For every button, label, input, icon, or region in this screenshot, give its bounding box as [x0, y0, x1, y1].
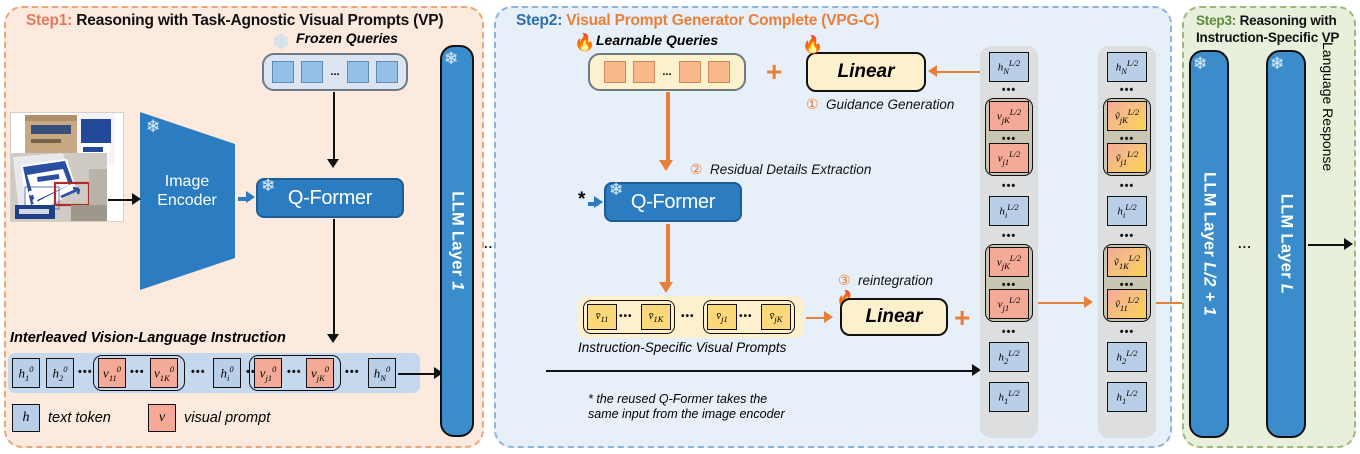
- col-right-token-vj1: ṽj1L/2: [1107, 143, 1147, 173]
- qformer-block-step2: Q-Former: [604, 182, 742, 222]
- arrow-photo-to-encoder: [108, 199, 134, 201]
- instruction-label: Interleaved Vision-Language Instruction: [10, 330, 286, 346]
- col-right-token-hi: hiL/2: [1107, 196, 1147, 226]
- panel-step3-title: Step3: Reasoning with Instruction-Specif…: [1196, 12, 1339, 46]
- query-cell: [633, 61, 655, 83]
- plus-sign-bottom: +: [954, 304, 970, 332]
- arrow-hN-to-linear: [936, 71, 984, 73]
- language-response-label: Language Response: [1320, 42, 1336, 171]
- arrow-head: [327, 334, 339, 343]
- llm-layer-dots-step3: ...: [1238, 236, 1252, 251]
- flame-icon: 🔥: [802, 36, 823, 53]
- arrow-qformer-to-instruction: [333, 219, 335, 337]
- llm-layer-1: LLM Layer 1: [440, 45, 474, 437]
- dots: •••: [619, 311, 633, 322]
- step3-title-line2: Instruction-Specific VP: [1196, 30, 1339, 45]
- col-left-token-vj1: vj1L/2: [989, 143, 1029, 173]
- arrow-left-col-to-right-col: [1038, 302, 1088, 304]
- llm-layer-L-label: LLM Layer L: [1277, 194, 1296, 295]
- query-cell: [708, 61, 730, 83]
- arrow-head: [1084, 296, 1093, 308]
- annotation-2-number: ②: [690, 161, 703, 178]
- dots: •••: [78, 366, 93, 378]
- arrow-head: [928, 65, 937, 77]
- token-v1K: v1K0: [150, 358, 178, 388]
- llm-layer-L2plus1-label: LLM Layer L/2 + 1: [1200, 172, 1219, 316]
- legend-visual-prompt-label: visual prompt: [184, 410, 270, 426]
- qformer-label: Q-Former: [288, 187, 372, 210]
- step1-title-text: Reasoning with Task-Agnostic Visual Prom…: [76, 12, 443, 29]
- annotation-1-text: Guidance Generation: [826, 97, 954, 112]
- snowflake-icon: ❄: [444, 50, 458, 67]
- col-right-token-v1K: ṽ1KL/2: [1107, 247, 1147, 277]
- plus-sign-top: +: [766, 58, 782, 86]
- image-encoder-label: Image Encoder: [141, 172, 233, 210]
- col-left-token-vjK: vjKL/2: [989, 101, 1029, 131]
- token-hN: hN0: [368, 358, 396, 388]
- frozen-queries-label: Frozen Queries: [296, 30, 398, 46]
- llm-layer-1-label: LLM Layer 1: [448, 191, 467, 291]
- arrow-head: [659, 160, 673, 171]
- col-left-token-vj1-2: vj1L/2: [989, 289, 1029, 319]
- col-left-token-hi: hiL/2: [989, 196, 1029, 226]
- dots: •••: [1002, 84, 1017, 96]
- flame-icon: 🔥: [574, 34, 595, 51]
- token-v11: v110: [98, 358, 126, 388]
- dots: •••: [287, 366, 302, 378]
- step2-title-text: Visual Prompt Generator Complete (VPG-C): [566, 12, 879, 29]
- query-cell: [679, 61, 701, 83]
- query-cell: [347, 61, 369, 83]
- arrow-queries-to-qformer2: [666, 92, 670, 164]
- step2-key: Step2:: [516, 12, 562, 29]
- annotation-1-number: ①: [806, 96, 819, 113]
- col-right-token-h2: h2L/2: [1107, 342, 1147, 372]
- arrow-queries-to-qformer: [333, 92, 335, 162]
- legend-text-token-box: h: [12, 404, 40, 432]
- query-cell: [301, 61, 323, 83]
- query-dots: ...: [330, 66, 339, 78]
- arrow-qformer2-to-isvp: [666, 224, 670, 286]
- col-right-token-v11: ṽ11L/2: [1107, 289, 1147, 319]
- isvp-token-v11: v̄11: [587, 304, 617, 330]
- snowflake-icon: ❄: [272, 32, 290, 53]
- col-right-token-h1: h1L/2: [1107, 382, 1147, 412]
- llm-layer-L: LLM Layer L: [1266, 50, 1306, 438]
- query-dots: ...: [662, 66, 671, 78]
- snowflake-icon: ❄: [1270, 55, 1284, 72]
- dots: •••: [191, 366, 206, 378]
- arrow-head: [824, 311, 833, 323]
- legend-text-token-label: text token: [48, 410, 111, 426]
- arrow-head: [594, 196, 603, 208]
- dots: •••: [130, 366, 145, 378]
- qformer-block-step1: Q-Former: [256, 178, 404, 218]
- query-cell: [604, 61, 626, 83]
- panel-step2-title: Step2: Visual Prompt Generator Complete …: [516, 12, 879, 30]
- arrow-head: [246, 191, 255, 203]
- step3-key: Step3:: [1196, 13, 1236, 28]
- query-cell: [272, 61, 294, 83]
- annotation-3-number: ③: [838, 272, 851, 289]
- isvp-token-v1K: v̄1K: [641, 304, 671, 330]
- snowflake-icon: ❄: [146, 118, 160, 135]
- col-left-token-h1: h1L/2: [989, 382, 1029, 412]
- step1-key: Step1:: [26, 12, 72, 29]
- milk-carton-photo: [11, 113, 123, 221]
- col-left-token-vjK-2: vjKL/2: [989, 247, 1029, 277]
- arrow-residual-stream: [546, 370, 976, 372]
- dots: •••: [1120, 180, 1135, 192]
- step3-title-line1: Reasoning with: [1240, 13, 1337, 28]
- isvp-caption: Instruction-Specific Visual Prompts: [578, 340, 786, 355]
- snowflake-icon: ❄: [1193, 55, 1207, 72]
- col-left-token-hN: hNL/2: [989, 52, 1029, 82]
- frozen-queries-box: ...: [262, 53, 408, 91]
- isvp-token-vj1: v̄j1: [707, 304, 737, 330]
- token-hi: hi0: [213, 358, 241, 388]
- snowflake-icon: ❄: [261, 177, 275, 194]
- learnable-queries-box: ...: [588, 53, 746, 91]
- col-right-token-vjK: ṽjKL/2: [1107, 101, 1147, 131]
- legend-visual-prompt-box: v: [148, 404, 176, 432]
- arrow-head: [1344, 238, 1353, 250]
- dots: •••: [345, 366, 360, 378]
- linear-block-bottom: Linear: [840, 298, 948, 336]
- qformer-label: Q-Former: [631, 191, 715, 214]
- dots: •••: [1002, 180, 1017, 192]
- arrow-head: [132, 193, 141, 205]
- isvp-token-vjK: v̄jK: [761, 304, 791, 330]
- arrow-head: [327, 159, 339, 168]
- footnote-text: * the reused Q-Former takes the same inp…: [588, 392, 785, 422]
- dots: •••: [1120, 230, 1135, 242]
- token-vj1: vj10: [254, 358, 282, 388]
- linear-block-top: Linear: [806, 52, 926, 92]
- arrow-head: [659, 282, 673, 293]
- learnable-queries-label: Learnable Queries: [596, 32, 718, 48]
- snowflake-icon: ❄: [609, 181, 623, 198]
- query-cell: [376, 61, 398, 83]
- dots: •••: [681, 311, 695, 322]
- llm-layer-L2plus1: LLM Layer L/2 + 1: [1189, 50, 1229, 438]
- token-vjK: vjK0: [306, 358, 334, 388]
- token-h2: h20: [46, 358, 74, 388]
- example-image: [10, 112, 124, 222]
- token-h1: h10: [12, 358, 40, 388]
- dots: •••: [1120, 326, 1135, 338]
- col-left-token-h2: h2L/2: [989, 342, 1029, 372]
- dots: •••: [739, 311, 753, 322]
- dots: •••: [1120, 84, 1135, 96]
- annotation-3-text: reintegration: [858, 273, 933, 288]
- dots: •••: [1002, 326, 1017, 338]
- panel-step1-title: Step1: Reasoning with Task-Agnostic Visu…: [26, 12, 443, 30]
- col-right-token-hN: hNL/2: [1107, 52, 1147, 82]
- annotation-2-text: Residual Details Extraction: [710, 162, 871, 177]
- arrow-instruction-to-llm1: [398, 373, 438, 375]
- footnote-star-marker: *: [578, 190, 585, 209]
- diagram-canvas: Step1: Reasoning with Task-Agnostic Visu…: [0, 0, 1360, 454]
- dots: •••: [1002, 230, 1017, 242]
